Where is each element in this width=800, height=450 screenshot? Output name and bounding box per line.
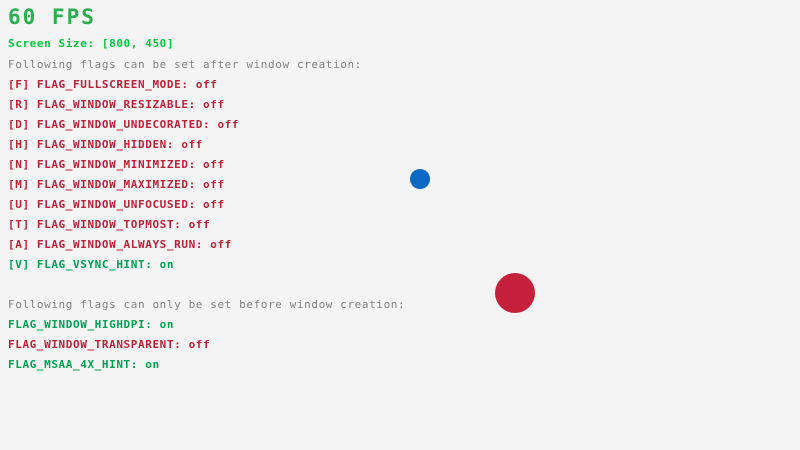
- after-creation-section-header: Following flags can be set after window …: [8, 59, 362, 70]
- flag-row-flag-window-always-run[interactable]: [A] FLAG_WINDOW_ALWAYS_RUN: off: [8, 239, 232, 250]
- flag-row-flag-window-highdpi[interactable]: FLAG_WINDOW_HIGHDPI: on: [8, 319, 174, 330]
- flag-row-flag-window-maximized[interactable]: [M] FLAG_WINDOW_MAXIMIZED: off: [8, 179, 225, 190]
- screen-size-label: Screen Size: [800, 450]: [8, 38, 174, 49]
- flag-row-flag-msaa-4x-hint[interactable]: FLAG_MSAA_4X_HINT: on: [8, 359, 160, 370]
- fps-counter: 60 FPS: [8, 7, 96, 28]
- raylib-window-canvas: 60 FPS Screen Size: [800, 450] Following…: [0, 0, 800, 450]
- flag-row-flag-window-topmost[interactable]: [T] FLAG_WINDOW_TOPMOST: off: [8, 219, 210, 230]
- flag-row-flag-vsync-hint[interactable]: [V] FLAG_VSYNC_HINT: on: [8, 259, 174, 270]
- flag-row-flag-window-minimized[interactable]: [N] FLAG_WINDOW_MINIMIZED: off: [8, 159, 225, 170]
- flag-row-flag-window-hidden[interactable]: [H] FLAG_WINDOW_HIDDEN: off: [8, 139, 203, 150]
- flag-row-flag-window-transparent[interactable]: FLAG_WINDOW_TRANSPARENT: off: [8, 339, 210, 350]
- blue-ball: [410, 169, 430, 189]
- flag-row-flag-window-unfocused[interactable]: [U] FLAG_WINDOW_UNFOCUSED: off: [8, 199, 225, 210]
- red-ball: [495, 273, 535, 313]
- flag-row-flag-fullscreen-mode[interactable]: [F] FLAG_FULLSCREEN_MODE: off: [8, 79, 217, 90]
- flag-row-flag-window-undecorated[interactable]: [D] FLAG_WINDOW_UNDECORATED: off: [8, 119, 239, 130]
- before-creation-section-header: Following flags can only be set before w…: [8, 299, 405, 310]
- flag-row-flag-window-resizable[interactable]: [R] FLAG_WINDOW_RESIZABLE: off: [8, 99, 225, 110]
